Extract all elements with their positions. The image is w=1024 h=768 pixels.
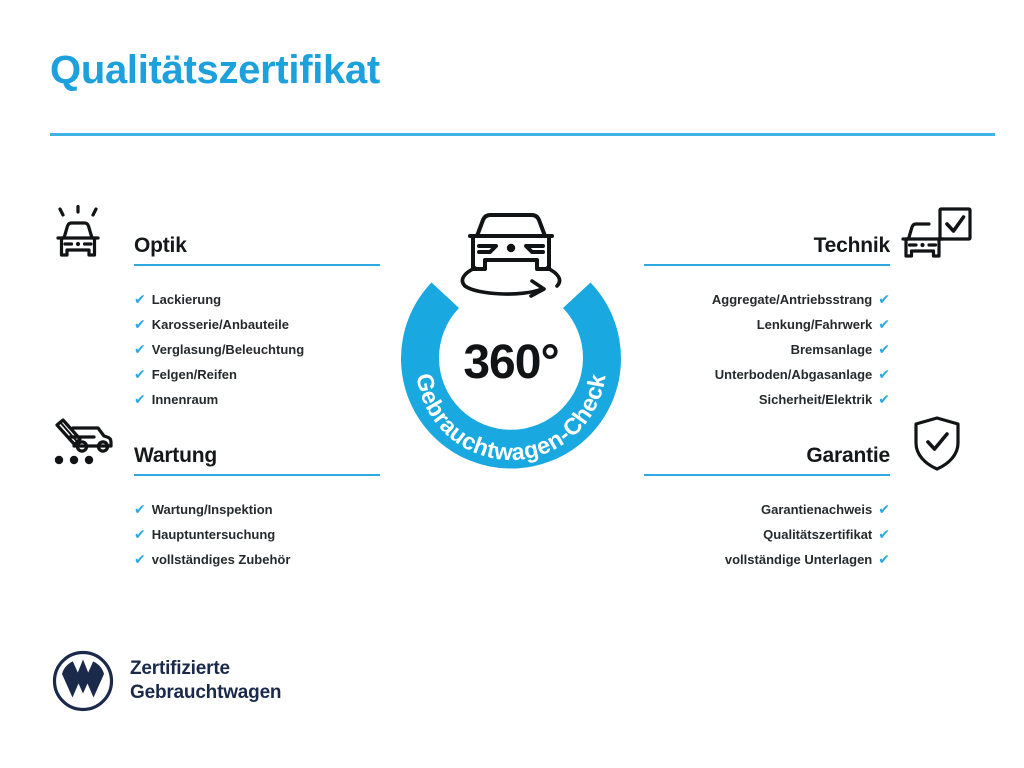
list-item-label: Innenraum [152,392,218,407]
check-icon: ✔ [134,526,146,542]
section-garantie-header: Garantie [644,445,890,476]
list-item-label: Felgen/Reifen [152,367,237,382]
check-icon: ✔ [134,341,146,357]
list-item-label: vollständiges Zubehör [152,552,291,567]
list-item-label: Hauptuntersuchung [152,527,276,542]
check-icon: ✔ [878,551,890,567]
check-icon: ✔ [878,501,890,517]
check-icon: ✔ [134,291,146,307]
list-item: Unterboden/Abgasanlage✔ [644,362,890,387]
section-wartung-rule [134,474,380,476]
section-technik-header: Technik [644,235,890,266]
certificate-page: Qualitätszertifikat Optik ✔Lackierung ✔K… [0,0,1024,768]
section-technik-title: Technik [644,235,890,257]
check-icon: ✔ [134,316,146,332]
car-checkbox-icon [900,205,974,267]
section-optik-list: ✔Lackierung ✔Karosserie/Anbauteile ✔Verg… [134,287,380,412]
section-optik-header: Optik [134,235,380,266]
list-item-label: Sicherheit/Elektrik [759,392,872,407]
list-item: Garantienachweis✔ [644,497,890,522]
car-shine-icon [50,205,124,267]
wrench-car-icon [50,415,124,477]
vw-certified-text: Zertifizierte Gebrauchtwagen [130,657,281,705]
list-item: ✔vollständiges Zubehör [134,547,380,572]
list-item: Sicherheit/Elektrik✔ [644,387,890,412]
check-icon: ✔ [878,341,890,357]
check-icon: ✔ [134,551,146,567]
list-item-label: Aggregate/Antriebsstrang [712,292,872,307]
footer-line-1: Zertifizierte [130,657,281,681]
check-icon: ✔ [134,501,146,517]
badge-center-label: 360° [372,339,650,387]
vw-logo-icon [52,650,114,712]
list-item: Lenkung/Fahrwerk✔ [644,312,890,337]
list-item: ✔Lackierung [134,287,380,312]
section-wartung-header: Wartung [134,445,380,476]
list-item: ✔Hauptuntersuchung [134,522,380,547]
list-item: ✔Verglasung/Beleuchtung [134,337,380,362]
list-item-label: vollständige Unterlagen [725,552,872,567]
list-item-label: Garantienachweis [761,502,872,517]
list-item: ✔Felgen/Reifen [134,362,380,387]
section-garantie-rule [644,474,890,476]
check-icon: ✔ [878,316,890,332]
list-item-label: Qualitätszertifikat [763,527,872,542]
list-item: Bremsanlage✔ [644,337,890,362]
list-item: ✔Karosserie/Anbauteile [134,312,380,337]
vw-certified-logo: Zertifizierte Gebrauchtwagen [52,650,281,712]
page-title: Qualitätszertifikat [50,48,380,92]
section-garantie-list: Garantienachweis✔ Qualitätszertifikat✔ v… [644,497,890,572]
list-item: ✔Innenraum [134,387,380,412]
list-item-label: Unterboden/Abgasanlage [715,367,872,382]
check-icon: ✔ [134,391,146,407]
check-icon: ✔ [878,391,890,407]
section-garantie-title: Garantie [644,445,890,467]
shield-check-icon [900,415,974,477]
section-optik-title: Optik [134,235,380,257]
section-wartung-list: ✔Wartung/Inspektion ✔Hauptuntersuchung ✔… [134,497,380,572]
list-item-label: Karosserie/Anbauteile [152,317,289,332]
list-item-label: Lackierung [152,292,221,307]
footer-line-2: Gebrauchtwagen [130,681,281,705]
list-item-label: Verglasung/Beleuchtung [152,342,304,357]
check-icon: ✔ [878,526,890,542]
check-icon: ✔ [134,366,146,382]
list-item-label: Bremsanlage [791,342,873,357]
list-item: ✔Wartung/Inspektion [134,497,380,522]
check-icon: ✔ [878,291,890,307]
section-wartung-title: Wartung [134,445,380,467]
car-rotate-360-icon [462,215,559,296]
section-optik-rule [134,264,380,266]
section-technik-list: Aggregate/Antriebsstrang✔ Lenkung/Fahrwe… [644,287,890,412]
check-icon: ✔ [878,366,890,382]
list-item: Qualitätszertifikat✔ [644,522,890,547]
list-item: vollständige Unterlagen✔ [644,547,890,572]
section-technik-rule [644,264,890,266]
badge-360-check: Gebrauchtwagen-Check 360° [372,196,650,492]
list-item-label: Lenkung/Fahrwerk [757,317,873,332]
list-item: Aggregate/Antriebsstrang✔ [644,287,890,312]
title-divider [50,133,995,136]
list-item-label: Wartung/Inspektion [152,502,273,517]
